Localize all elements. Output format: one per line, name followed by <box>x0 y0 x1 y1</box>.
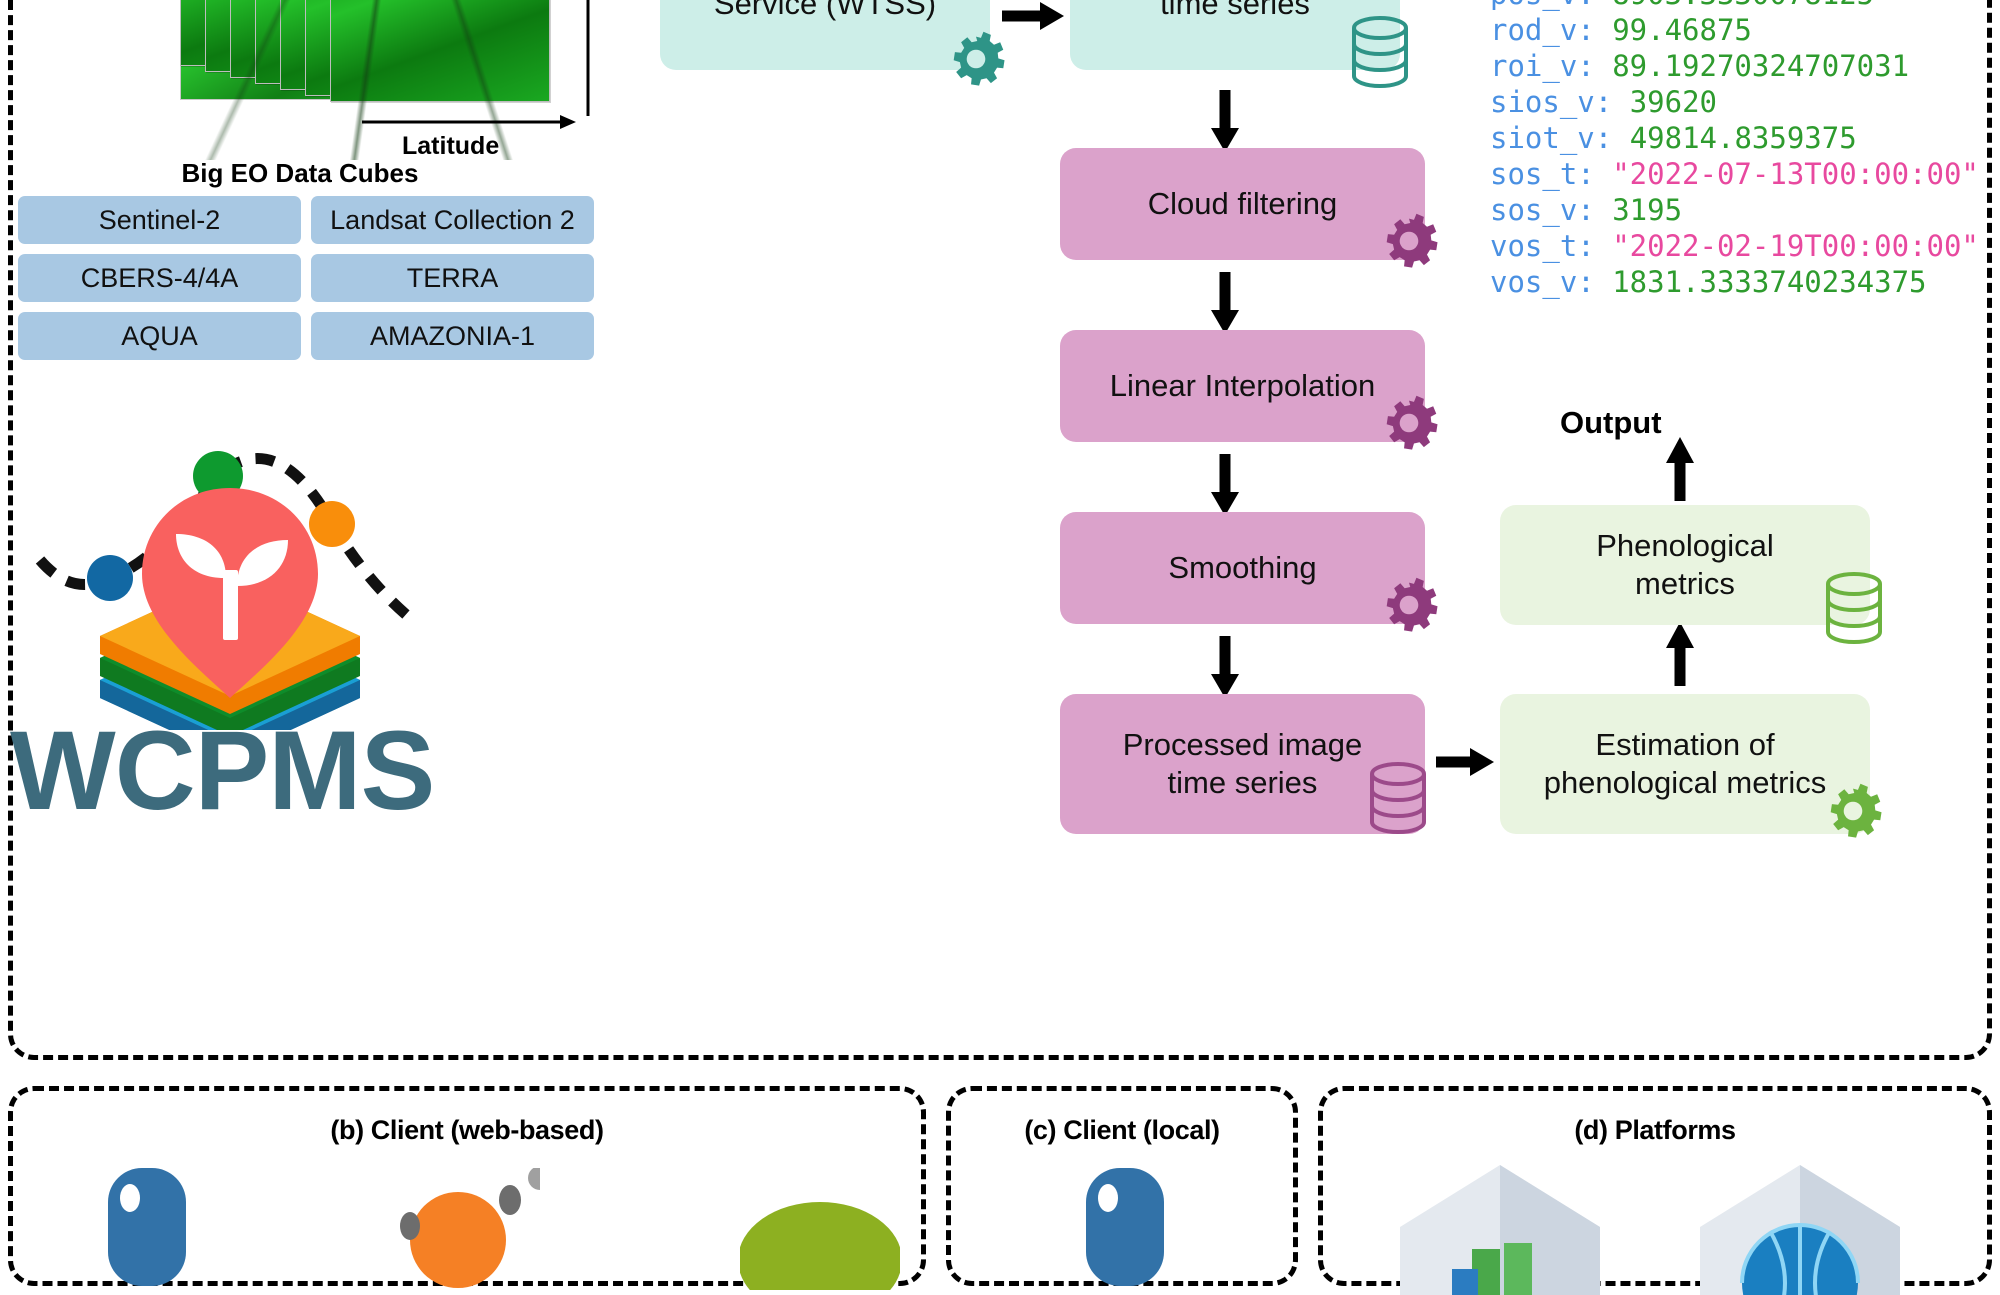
panel-c-title: (c) Client (local) <box>951 1115 1293 1146</box>
gear-icon <box>1378 574 1440 636</box>
metric-row: siot_v: 49814.8359375 <box>1490 120 1979 156</box>
arrow-right <box>1434 742 1496 782</box>
flow-box-wtss-label: Web Time Series Service (WTSS) <box>707 0 942 23</box>
gear-icon <box>1822 780 1884 842</box>
database-icon <box>1824 570 1884 648</box>
wcpms-logo-text: WCPMS <box>10 706 430 835</box>
collection-row: Sentinel-2 Landsat Collection 2 <box>18 196 594 244</box>
collection-chip-terra[interactable]: TERRA <box>311 254 594 302</box>
collection-chip-sentinel-2[interactable]: Sentinel-2 <box>18 196 301 244</box>
output-label: Output <box>1560 405 1662 441</box>
metric-key: sos_v: <box>1490 193 1612 227</box>
metric-key: sios_v: <box>1490 85 1630 119</box>
client-local-icon[interactable] <box>1086 1168 1166 1288</box>
metric-value: "2022-02-19T00:00:00" <box>1612 229 1979 263</box>
flow-box-linear-interpolation[interactable]: Linear Interpolation <box>1060 330 1425 442</box>
phenology-dot-orange <box>309 501 355 547</box>
collection-chip-landsat[interactable]: Landsat Collection 2 <box>311 196 594 244</box>
earth-engine-platform-icon[interactable] <box>1700 1165 1900 1295</box>
flow-box-cloud-filtering[interactable]: Cloud filtering <box>1060 148 1425 260</box>
arrow-down <box>1205 88 1245 154</box>
eo-data-cube-illustration: Time Latitude Longitude <box>180 0 600 160</box>
wcpms-logo-graphic <box>10 430 480 730</box>
flow-box-processed-label: Processed image time series <box>1123 726 1363 802</box>
metric-row: sos_v: 3195 <box>1490 192 1979 228</box>
metric-key: sos_t: <box>1490 157 1612 191</box>
arrow-up <box>1660 435 1700 505</box>
r-language-icon[interactable] <box>740 1170 900 1290</box>
metric-key: vos_t: <box>1490 229 1612 263</box>
flow-box-smoothing[interactable]: Smoothing <box>1060 512 1425 624</box>
output-metrics-list: eos_v: 2537.333251953125lios_v: 56102lio… <box>1490 0 1979 300</box>
metric-value: 3195 <box>1612 193 1682 227</box>
collections-list: Sentinel-2 Landsat Collection 2 CBERS-4/… <box>18 196 594 370</box>
arrow-right <box>1000 0 1066 36</box>
eo-data-cubes-heading: Big EO Data Cubes <box>0 158 600 189</box>
database-icon <box>1368 760 1428 838</box>
python-icon[interactable] <box>370 1168 540 1288</box>
arrow-down <box>1205 270 1245 336</box>
collection-row: AQUA AMAZONIA-1 <box>18 312 594 360</box>
arrow-down <box>1205 634 1245 700</box>
metric-value: "2022-07-13T00:00:00" <box>1612 157 1979 191</box>
gear-icon <box>945 28 1007 90</box>
phenology-dot-blue <box>87 555 133 601</box>
panel-b-title: (b) Client (web-based) <box>13 1115 921 1146</box>
metric-key: siot_v: <box>1490 121 1630 155</box>
metric-row: roi_v: 89.19270324707031 <box>1490 48 1979 84</box>
axis-label-latitude: Latitude <box>402 132 499 161</box>
flow-box-estimation-of-phenological-metrics[interactable]: Estimation of phenological metrics <box>1500 694 1870 834</box>
database-icon <box>1350 14 1410 92</box>
gear-icon <box>1378 210 1440 272</box>
metric-key: pos_v: <box>1490 0 1612 11</box>
flow-box-satellite-label: Satellite image time series <box>1133 0 1336 23</box>
metric-key: roi_v: <box>1490 49 1612 83</box>
metric-value: 49814.8359375 <box>1630 121 1857 155</box>
metric-row: sios_v: 39620 <box>1490 84 1979 120</box>
metric-key: vos_v: <box>1490 265 1612 299</box>
collection-chip-amazonia-1[interactable]: AMAZONIA-1 <box>311 312 594 360</box>
metric-value: 8903.3330078125 <box>1612 0 1874 11</box>
collection-row: CBERS-4/4A TERRA <box>18 254 594 302</box>
flow-box-smoothing-label: Smoothing <box>1168 549 1316 587</box>
flow-box-phenological-metrics[interactable]: Phenological metrics <box>1500 505 1870 625</box>
metric-row: vos_t: "2022-02-19T00:00:00" <box>1490 228 1979 264</box>
flow-box-wtss[interactable]: Web Time Series Service (WTSS) <box>660 0 990 70</box>
arrow-up <box>1660 620 1700 690</box>
metric-value: 1831.3333740234375 <box>1612 265 1926 299</box>
swagger-icon[interactable] <box>108 1168 188 1288</box>
metric-row: pos_v: 8903.3330078125 <box>1490 0 1979 12</box>
arrow-down <box>1205 452 1245 518</box>
gear-icon <box>1378 392 1440 454</box>
metric-value: 39620 <box>1630 85 1717 119</box>
wcpms-logo: WCPMS <box>10 430 480 950</box>
collection-chip-cbers[interactable]: CBERS-4/4A <box>18 254 301 302</box>
flow-box-cloud-label: Cloud filtering <box>1148 185 1338 223</box>
metric-value: 99.46875 <box>1612 13 1752 47</box>
collection-chip-aqua[interactable]: AQUA <box>18 312 301 360</box>
metric-value: 89.19270324707031 <box>1612 49 1909 83</box>
brazil-data-cube-platform-icon[interactable] <box>1400 1165 1600 1295</box>
metric-row: rod_v: 99.46875 <box>1490 12 1979 48</box>
flow-box-phenometrics-label: Phenological metrics <box>1596 527 1774 603</box>
metric-row: sos_t: "2022-07-13T00:00:00" <box>1490 156 1979 192</box>
cube-front-image <box>180 0 405 100</box>
panel-d-title: (d) Platforms <box>1323 1115 1987 1146</box>
metric-key: rod_v: <box>1490 13 1612 47</box>
flow-box-estimation-label: Estimation of phenological metrics <box>1544 726 1827 802</box>
flow-box-interpolation-label: Linear Interpolation <box>1110 367 1375 405</box>
metric-row: vos_v: 1831.3333740234375 <box>1490 264 1979 300</box>
